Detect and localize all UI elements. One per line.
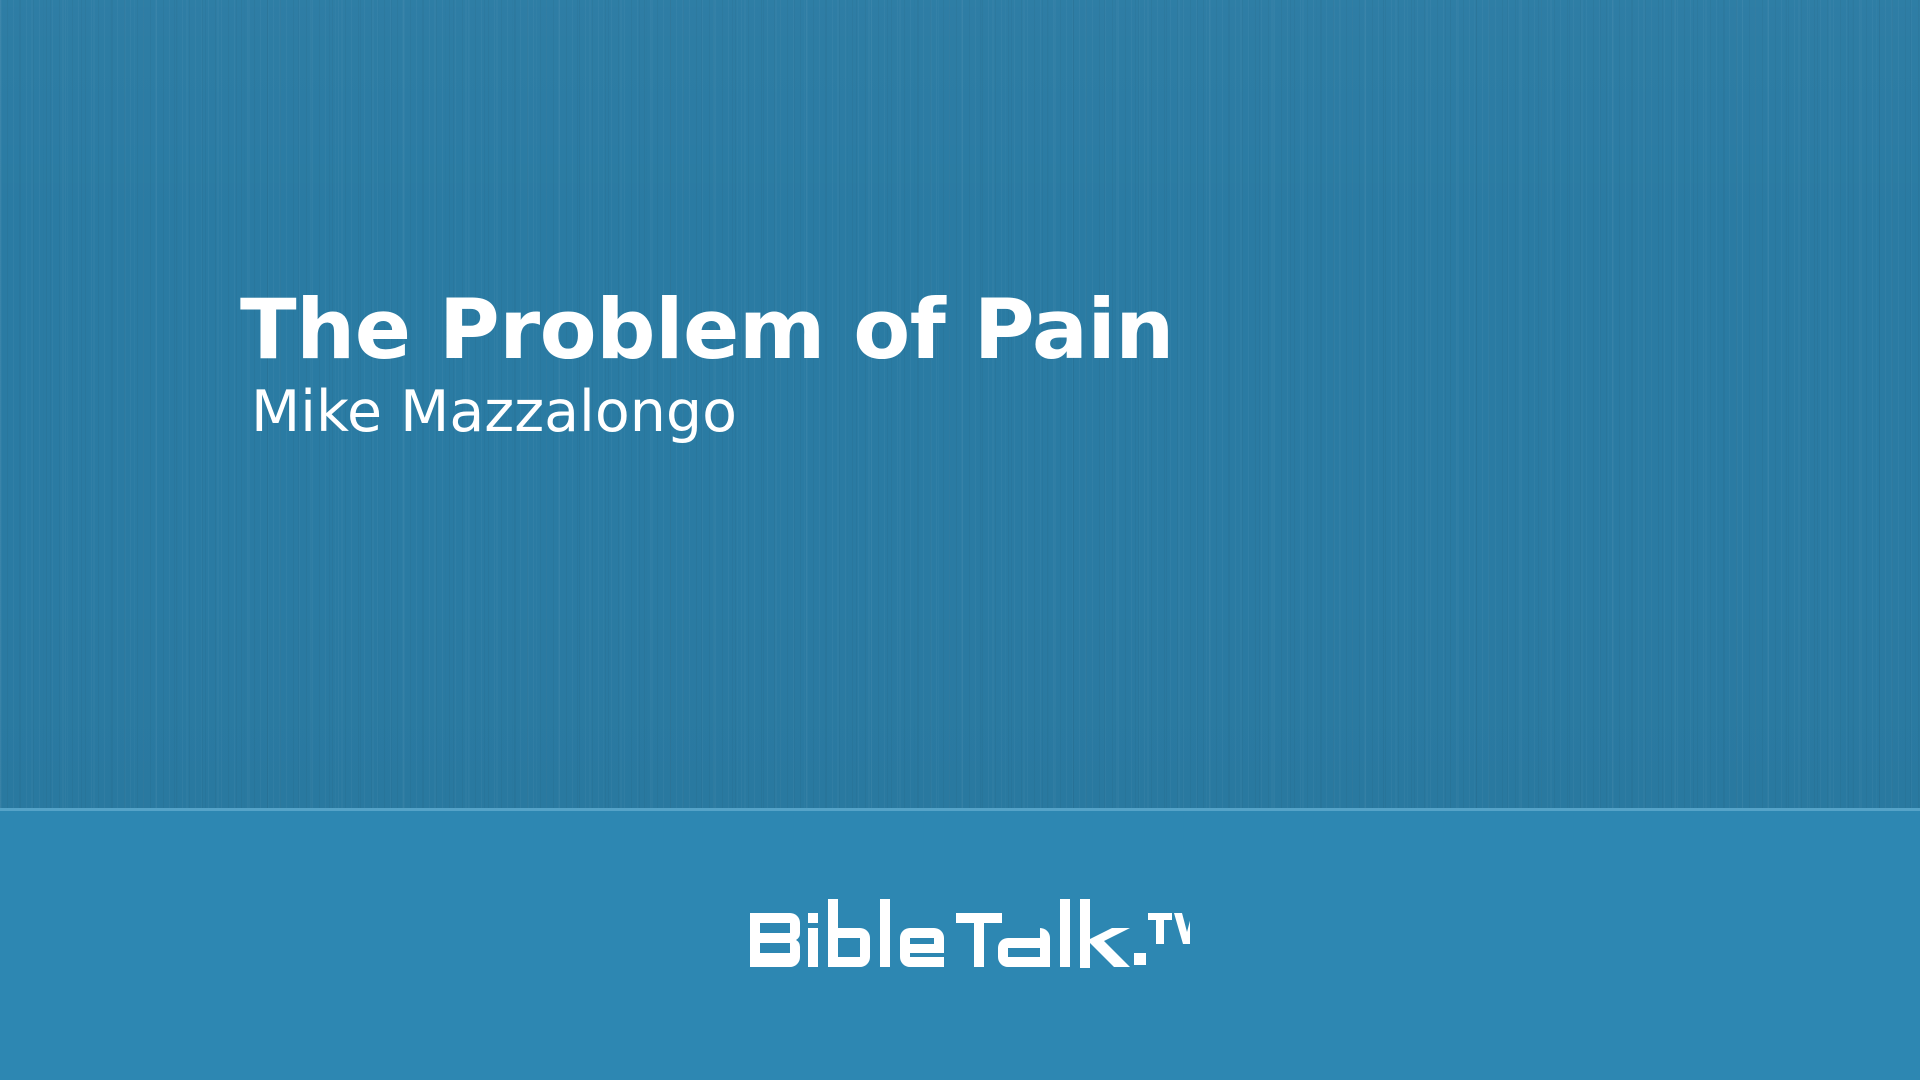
bibletalk-logo-icon [750,895,1190,981]
presentation-slide: The Problem of Pain Mike Mazzalongo [0,0,1920,1080]
bibletalk-logo [750,895,1190,981]
slide-title: The Problem of Pain [240,288,1640,373]
slide-subtitle-speaker: Mike Mazzalongo [251,383,1640,442]
title-block: The Problem of Pain Mike Mazzalongo [240,288,1640,442]
brand-bar [0,811,1920,1080]
slide-stage: The Problem of Pain Mike Mazzalongo [0,0,1920,810]
